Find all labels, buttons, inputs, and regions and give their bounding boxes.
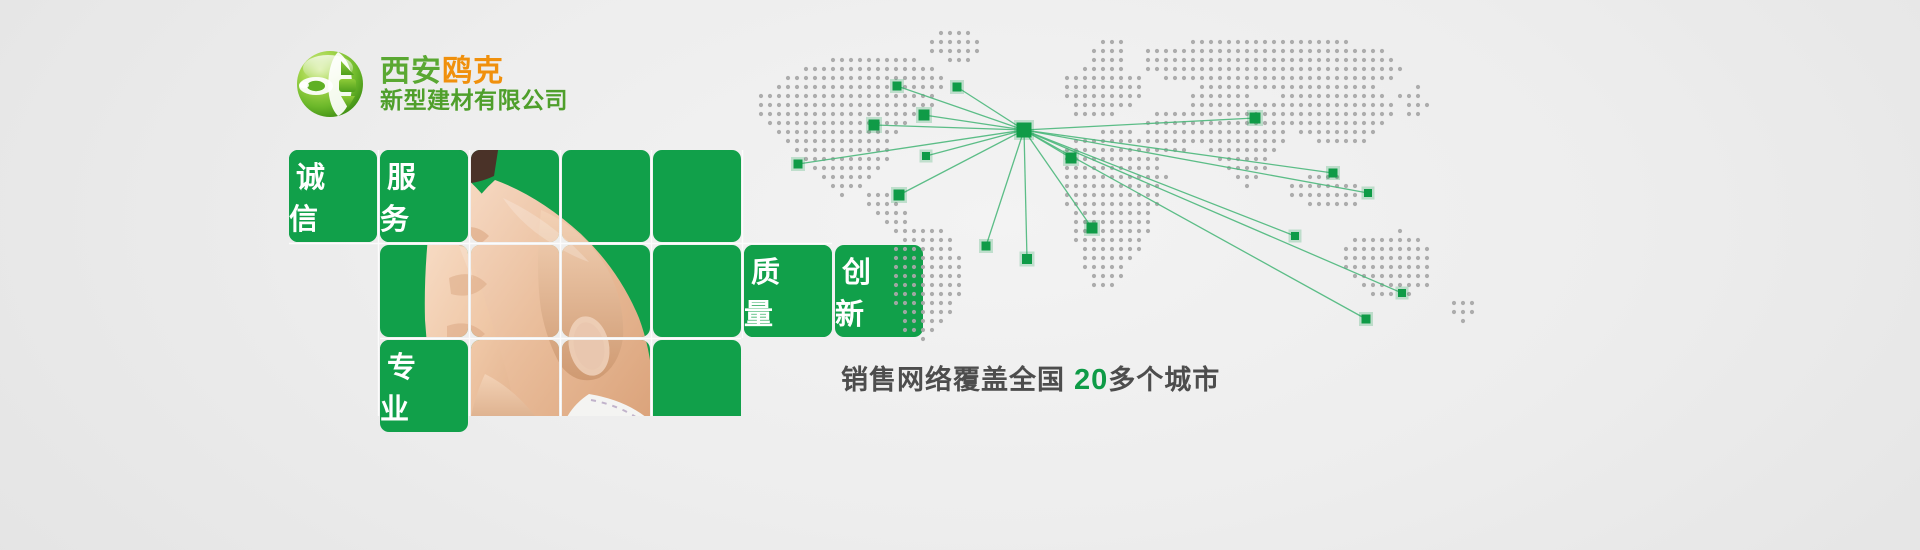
tile-integrity-label: 诚 信 — [289, 154, 377, 238]
map-city-node — [1364, 189, 1372, 197]
tagline-suffix: 多个城市 — [1108, 365, 1220, 395]
map-city-node — [982, 242, 991, 251]
map-dot-matrix — [759, 31, 1474, 341]
map-city-node — [1291, 232, 1299, 240]
map-city-node — [1329, 169, 1338, 178]
tagline-number: 20 — [1074, 364, 1108, 396]
world-dot-map — [735, 10, 1515, 355]
map-city-node — [1087, 223, 1098, 234]
promo-banner: 西安鸥克 新型建材有限公司 — [0, 0, 1920, 550]
map-city-node — [922, 152, 930, 160]
logo-line-2: 新型建材有限公司 — [380, 89, 568, 112]
map-city-node — [953, 83, 962, 92]
logo-city-text: 西安 — [380, 55, 442, 88]
world-dot-map-svg — [735, 10, 1515, 355]
tile-service-label: 服 务 — [380, 154, 468, 238]
map-city-node — [1022, 254, 1032, 264]
company-logo[interactable]: 西安鸥克 新型建材有限公司 — [294, 48, 568, 120]
map-city-node — [794, 160, 803, 169]
tile-integrity[interactable]: 诚 信 — [289, 150, 377, 242]
map-city-node — [894, 190, 905, 201]
map-city-node — [1066, 153, 1077, 164]
map-city-node — [919, 110, 930, 121]
map-city-node — [1250, 113, 1261, 124]
tile-service[interactable]: 服 务 — [380, 150, 468, 242]
map-city-node — [893, 82, 902, 91]
tile-professional[interactable]: 专 业 — [380, 340, 468, 432]
map-city-node — [869, 120, 880, 131]
sales-network-tagline: 销售网络覆盖全国20多个城市 — [841, 358, 1220, 397]
logo-wordmark: 西安鸥克 新型建材有限公司 — [380, 57, 568, 112]
map-city-node — [1017, 123, 1032, 138]
map-city-node — [1362, 315, 1371, 324]
company-globe-logo-icon — [294, 48, 366, 120]
map-city-nodes — [791, 79, 1409, 326]
logo-line-1: 西安鸥克 — [380, 57, 568, 87]
tile-professional-label: 专 业 — [380, 344, 468, 428]
tagline-prefix: 销售网络覆盖全国 — [841, 365, 1065, 395]
logo-brand-text: 鸥克 — [442, 55, 504, 88]
map-city-node — [1398, 289, 1406, 297]
